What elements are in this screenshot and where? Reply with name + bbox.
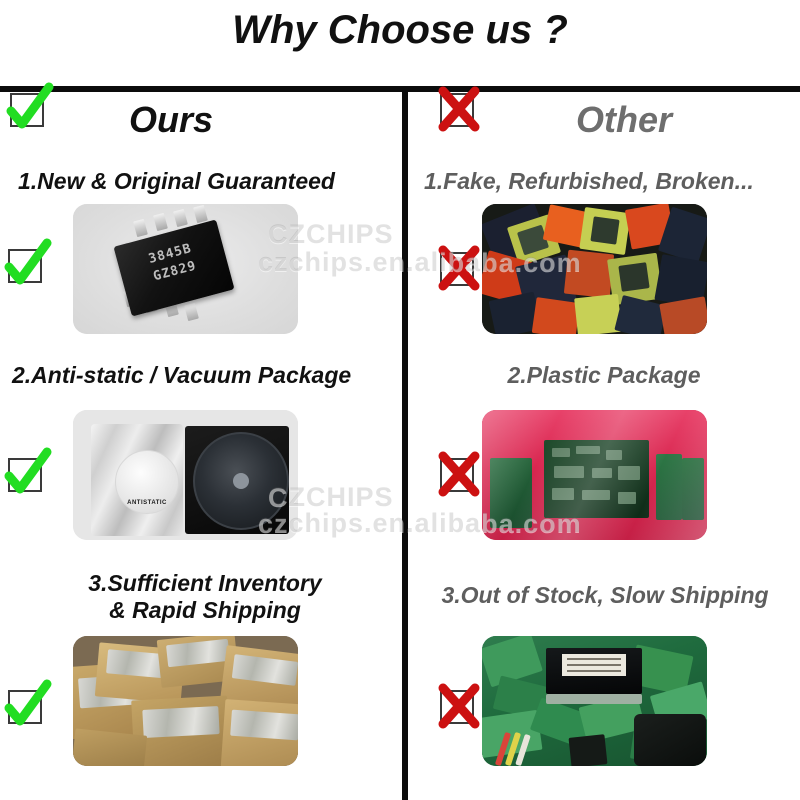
vacuum-tray bbox=[185, 426, 289, 534]
why-choose-us-infographic: Why Choose us ? Ours Other 1.New & Origi… bbox=[0, 0, 800, 800]
row3-other-photo bbox=[482, 636, 707, 766]
row2-ours-heading: 2.Anti-static / Vacuum Package bbox=[12, 362, 402, 389]
row3-other-heading: 3.Out of Stock, Slow Shipping bbox=[410, 582, 800, 609]
column-divider bbox=[402, 88, 408, 800]
column-header-ours: Ours bbox=[0, 92, 402, 148]
check-mark-icon bbox=[1, 680, 53, 732]
component-reel bbox=[193, 432, 289, 530]
row2-ours-check-mark bbox=[8, 458, 42, 492]
plastic-sheen bbox=[482, 410, 707, 540]
row1-other-cross-mark bbox=[440, 252, 474, 286]
check-mark-icon bbox=[1, 239, 53, 291]
row2-ours-photo: ANTISTATIC bbox=[73, 410, 298, 540]
row3-ours-heading-line2: & Rapid Shipping bbox=[109, 597, 301, 623]
e-waste-scrap-photo bbox=[482, 636, 707, 766]
cross-mark-icon bbox=[433, 680, 485, 732]
row1-ours-check-mark bbox=[8, 249, 42, 283]
column-label-ours: Ours bbox=[0, 99, 372, 141]
check-mark-icon bbox=[1, 448, 53, 500]
cross-mark-icon bbox=[433, 242, 485, 294]
row1-other-photo bbox=[482, 204, 707, 334]
esd-warning-icon bbox=[135, 463, 159, 484]
reel-hub bbox=[233, 473, 249, 489]
row2-other-photo bbox=[482, 410, 707, 540]
plastic-package-photo bbox=[482, 410, 707, 540]
column-header-other: Other bbox=[408, 92, 800, 148]
row3-ours-photo bbox=[73, 636, 298, 766]
chip-photo-background: 3845B GZ829 bbox=[73, 204, 298, 334]
column-label-other: Other bbox=[448, 99, 800, 141]
row1-ours-heading: 1.New & Original Guaranteed bbox=[18, 168, 398, 195]
row1-other-heading: 1.Fake, Refurbished, Broken... bbox=[424, 168, 800, 195]
row1-ours-photo: 3845B GZ829 bbox=[73, 204, 298, 334]
page-title: Why Choose us ? bbox=[0, 8, 800, 53]
module-label bbox=[562, 654, 626, 676]
fake-chips-pile bbox=[482, 204, 707, 334]
antistatic-label: ANTISTATIC bbox=[116, 500, 178, 506]
row2-other-cross-mark bbox=[440, 458, 474, 492]
cross-mark-icon bbox=[433, 448, 485, 500]
chip-body: 3845B GZ829 bbox=[113, 220, 234, 317]
black-module bbox=[546, 648, 642, 694]
stocked-cartons-photo bbox=[73, 636, 298, 766]
antistatic-disc: ANTISTATIC bbox=[115, 450, 179, 514]
antistatic-package-photo: ANTISTATIC bbox=[73, 410, 298, 540]
antistatic-bag: ANTISTATIC bbox=[91, 424, 183, 536]
row3-ours-heading-line1: 3.Sufficient Inventory bbox=[88, 570, 321, 596]
row3-other-cross-mark bbox=[440, 690, 474, 724]
row3-ours-check-mark bbox=[8, 690, 42, 724]
row3-ours-heading: 3.Sufficient Inventory & Rapid Shipping bbox=[40, 570, 370, 623]
row2-other-heading: 2.Plastic Package bbox=[408, 362, 800, 389]
